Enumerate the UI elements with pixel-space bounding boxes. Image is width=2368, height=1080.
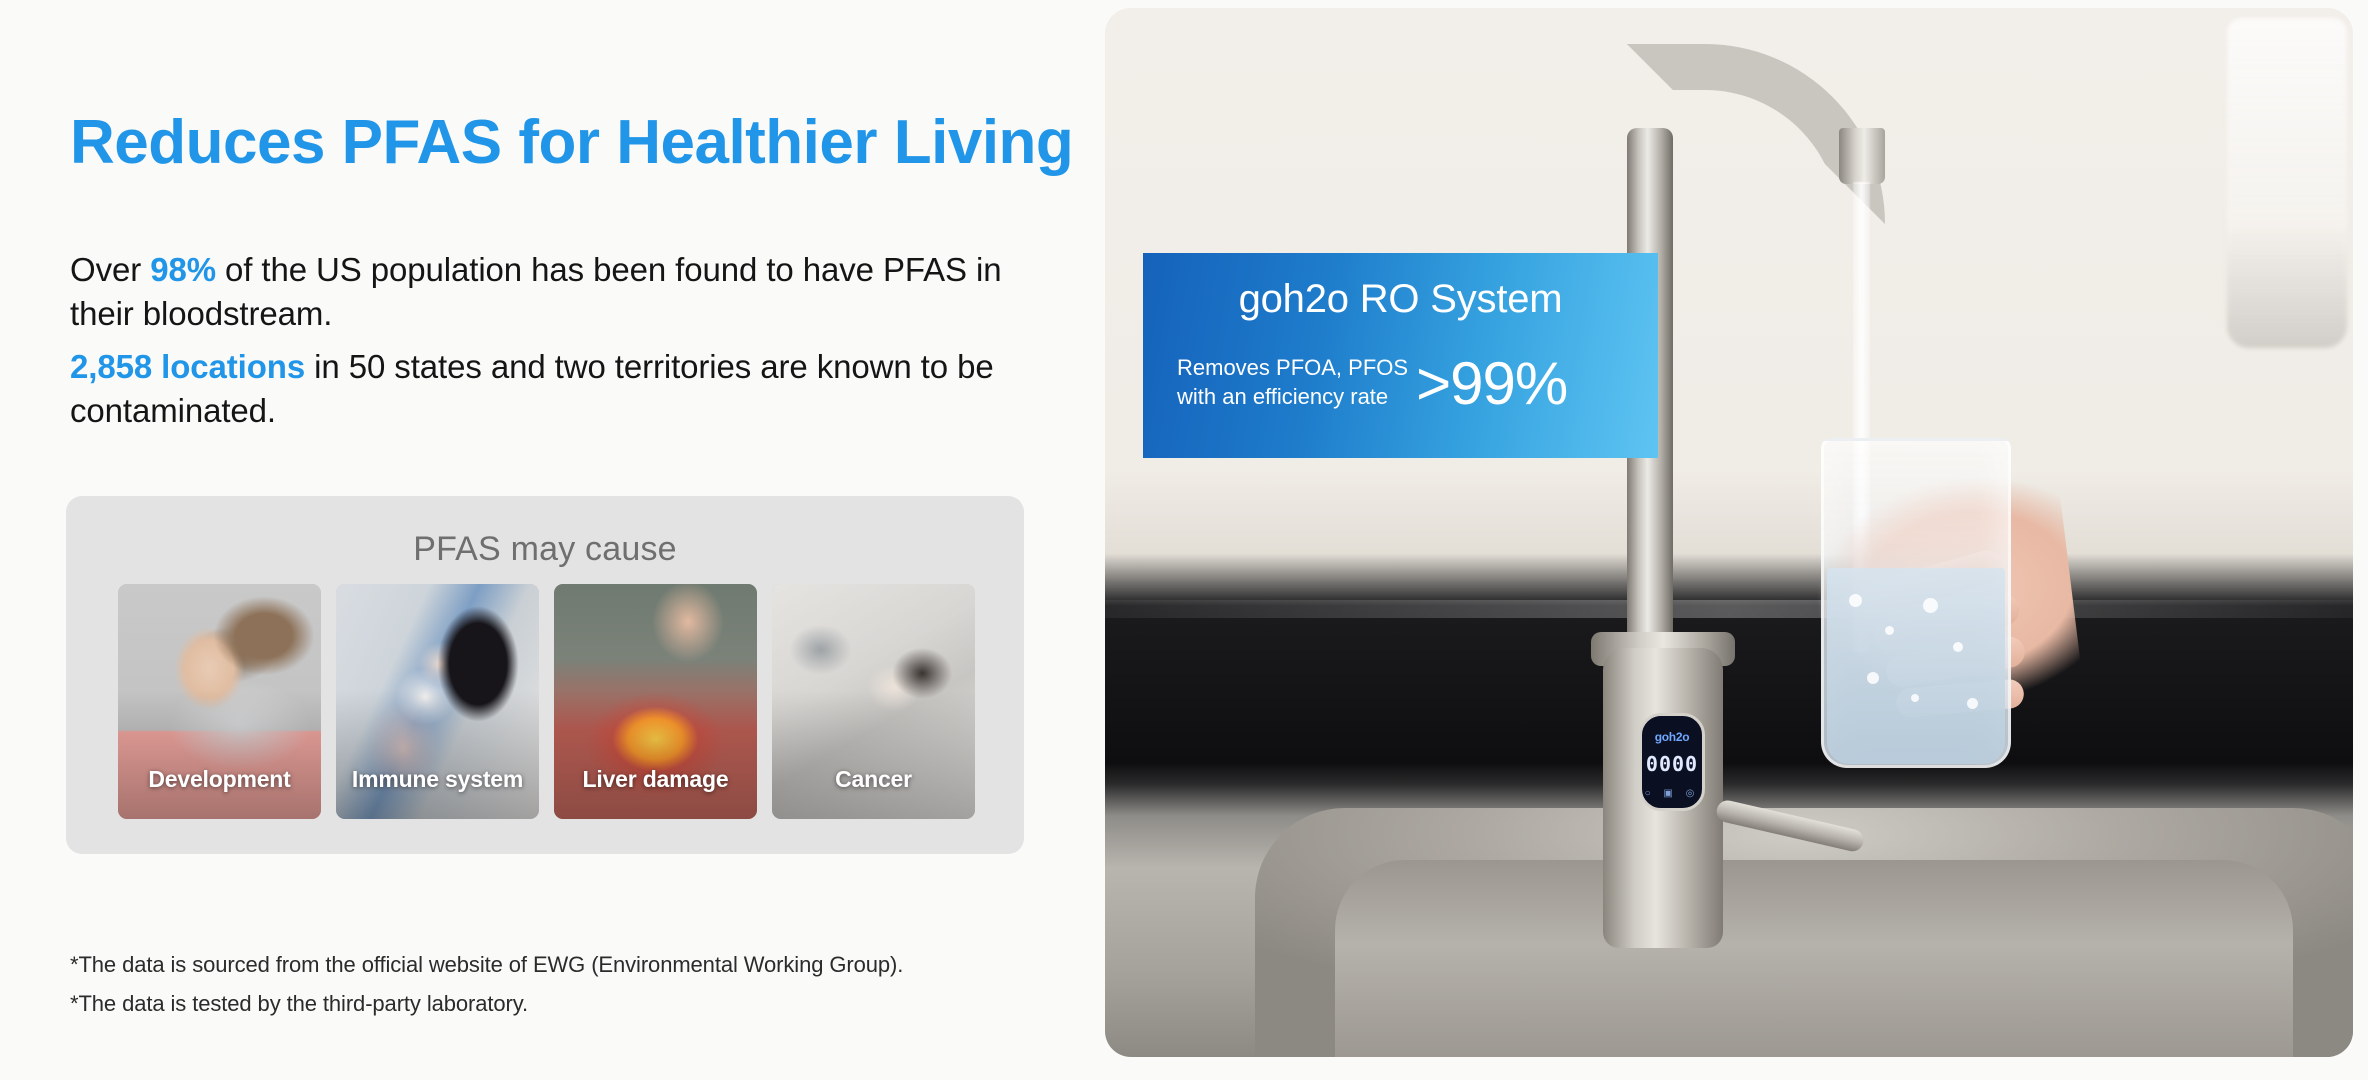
badge-subtitle-line1: Removes PFOA, PFOS	[1177, 353, 1408, 382]
ro-system-badge: goh2o RO System Removes PFOA, PFOS with …	[1143, 253, 1658, 458]
cause-card-immune-system[interactable]: Immune system	[336, 584, 539, 819]
badge-title: goh2o RO System	[1143, 275, 1658, 323]
pfas-panel-title: PFAS may cause	[66, 529, 1024, 569]
footnotes: *The data is sourced from the official w…	[70, 945, 903, 1023]
badge-subtitle-line2: with an efficiency rate	[1177, 382, 1408, 411]
background-water-glass	[2227, 18, 2347, 348]
pfas-marketing-page: Reduces PFAS for Healthier Living Over 9…	[0, 0, 2368, 1080]
bubble	[1911, 694, 1919, 702]
bubble	[1953, 642, 1963, 652]
stat-2858-locations: 2,858 locations	[70, 348, 305, 385]
glass-water-fill	[1827, 568, 2005, 764]
faucet-digital-display[interactable]: goh2o 0000 ○ ▣ ◎	[1639, 713, 1705, 811]
bubble	[1923, 598, 1938, 613]
intro-paragraphs: Over 98% of the US population has been f…	[70, 248, 1060, 442]
badge-stat-row: Removes PFOA, PFOS with an efficiency ra…	[1177, 349, 1636, 415]
bubble	[1967, 698, 1978, 709]
faucet-display-brand: goh2o	[1655, 730, 1690, 744]
bubble	[1849, 594, 1862, 607]
cause-card-label: Cancer	[772, 766, 975, 793]
countertop-edge-highlight	[1105, 600, 2353, 618]
cause-card-row: Development Immune system Liver damage C…	[118, 584, 975, 819]
cause-card-label: Liver damage	[554, 766, 757, 793]
footnote-lab-testing: *The data is tested by the third-party l…	[70, 984, 903, 1023]
stat-98-percent: 98%	[150, 251, 216, 288]
footnote-data-source: *The data is sourced from the official w…	[70, 945, 903, 984]
cause-card-label: Immune system	[336, 766, 539, 793]
page-title: Reduces PFAS for Healthier Living	[70, 108, 1073, 178]
bubble	[1885, 626, 1894, 635]
faucet-display-digits: 0000	[1646, 752, 1698, 776]
stat-paragraph-population: Over 98% of the US population has been f…	[70, 248, 1060, 336]
lede-prefix: Over	[70, 251, 150, 288]
left-content-column: Reduces PFAS for Healthier Living Over 9…	[0, 0, 1105, 1080]
cause-card-cancer[interactable]: Cancer	[772, 584, 975, 819]
sink-basin-interior	[1335, 860, 2293, 1057]
faucet-spout	[1839, 128, 1885, 184]
faucet-display-status-icons: ○ ▣ ◎	[1642, 788, 1702, 799]
product-photo-panel: goh2o 0000 ○ ▣ ◎ goh2o RO System Removes…	[1105, 8, 2353, 1057]
stat-paragraph-locations: 2,858 locations in 50 states and two ter…	[70, 345, 1060, 433]
cause-card-liver-damage[interactable]: Liver damage	[554, 584, 757, 819]
cause-card-development[interactable]: Development	[118, 584, 321, 819]
cause-card-label: Development	[118, 766, 321, 793]
badge-efficiency-stat: >99%	[1416, 353, 1567, 415]
badge-subtitle: Removes PFOA, PFOS with an efficiency ra…	[1177, 353, 1408, 411]
pfas-may-cause-panel: PFAS may cause Development Immune system…	[66, 496, 1024, 854]
bubble	[1867, 672, 1879, 684]
